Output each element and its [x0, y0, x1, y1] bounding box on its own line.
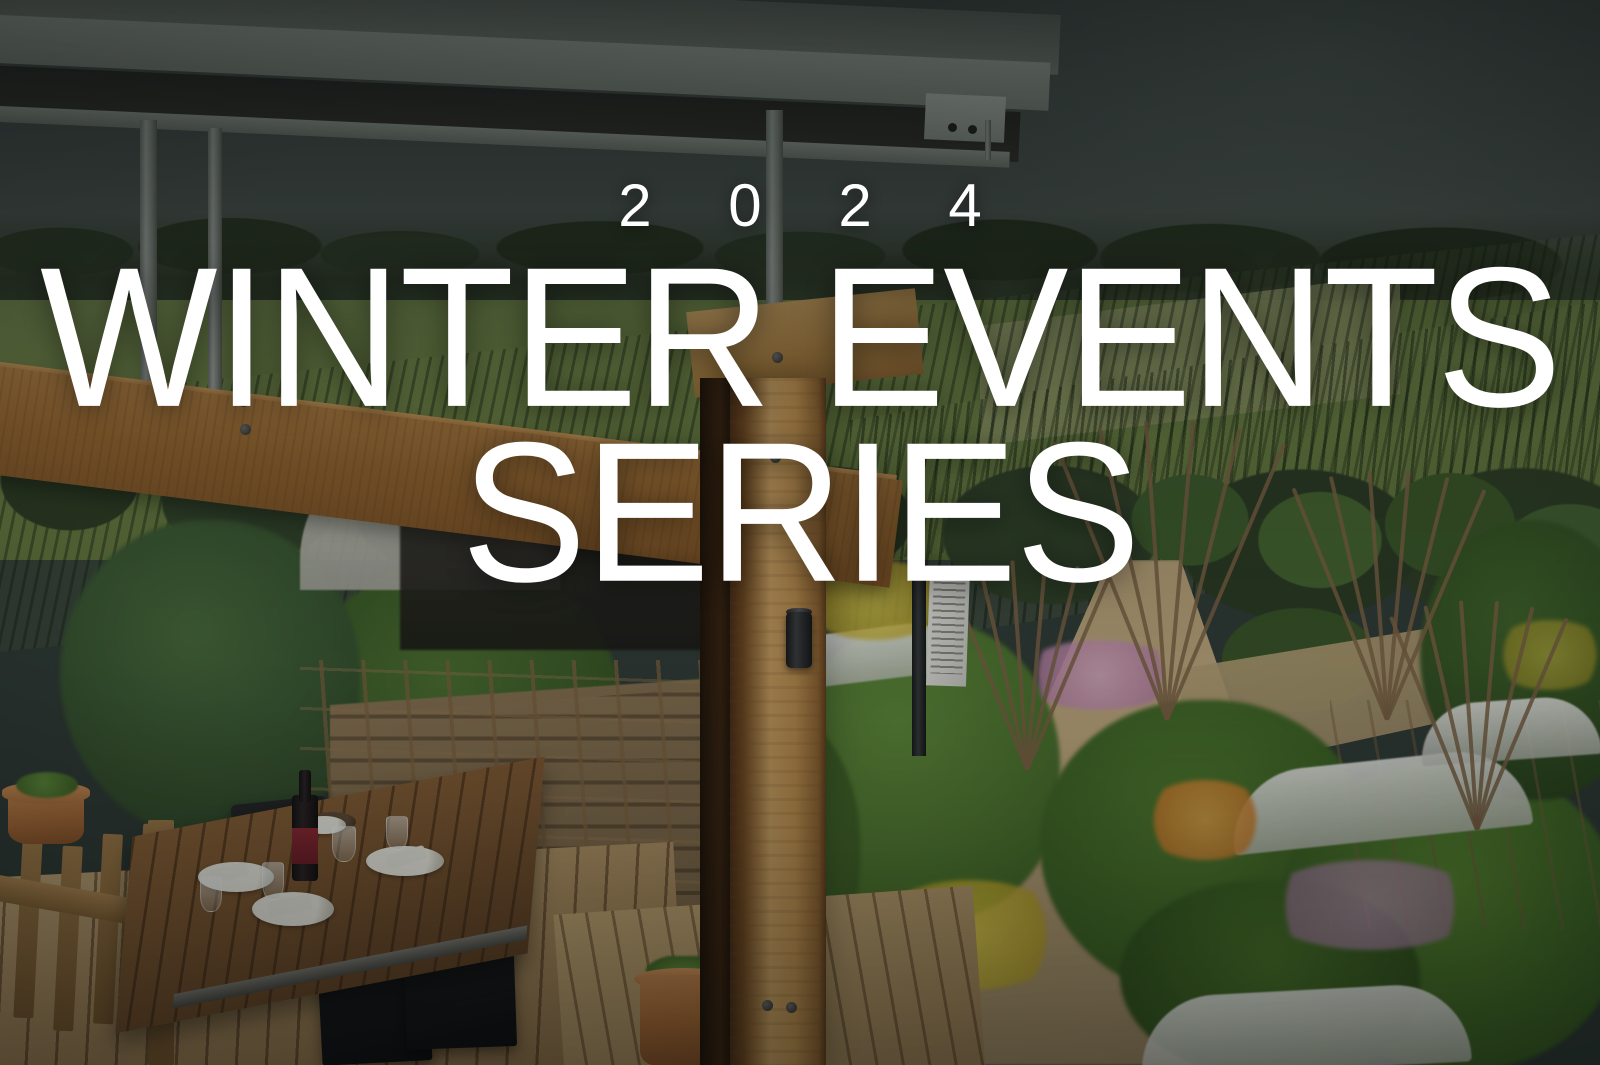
image-tint-overlay [0, 0, 1600, 1065]
background-photograph [0, 0, 1600, 1065]
winter-events-hero-banner: 2 0 2 4 WINTER EVENTS SERIES [0, 0, 1600, 1065]
